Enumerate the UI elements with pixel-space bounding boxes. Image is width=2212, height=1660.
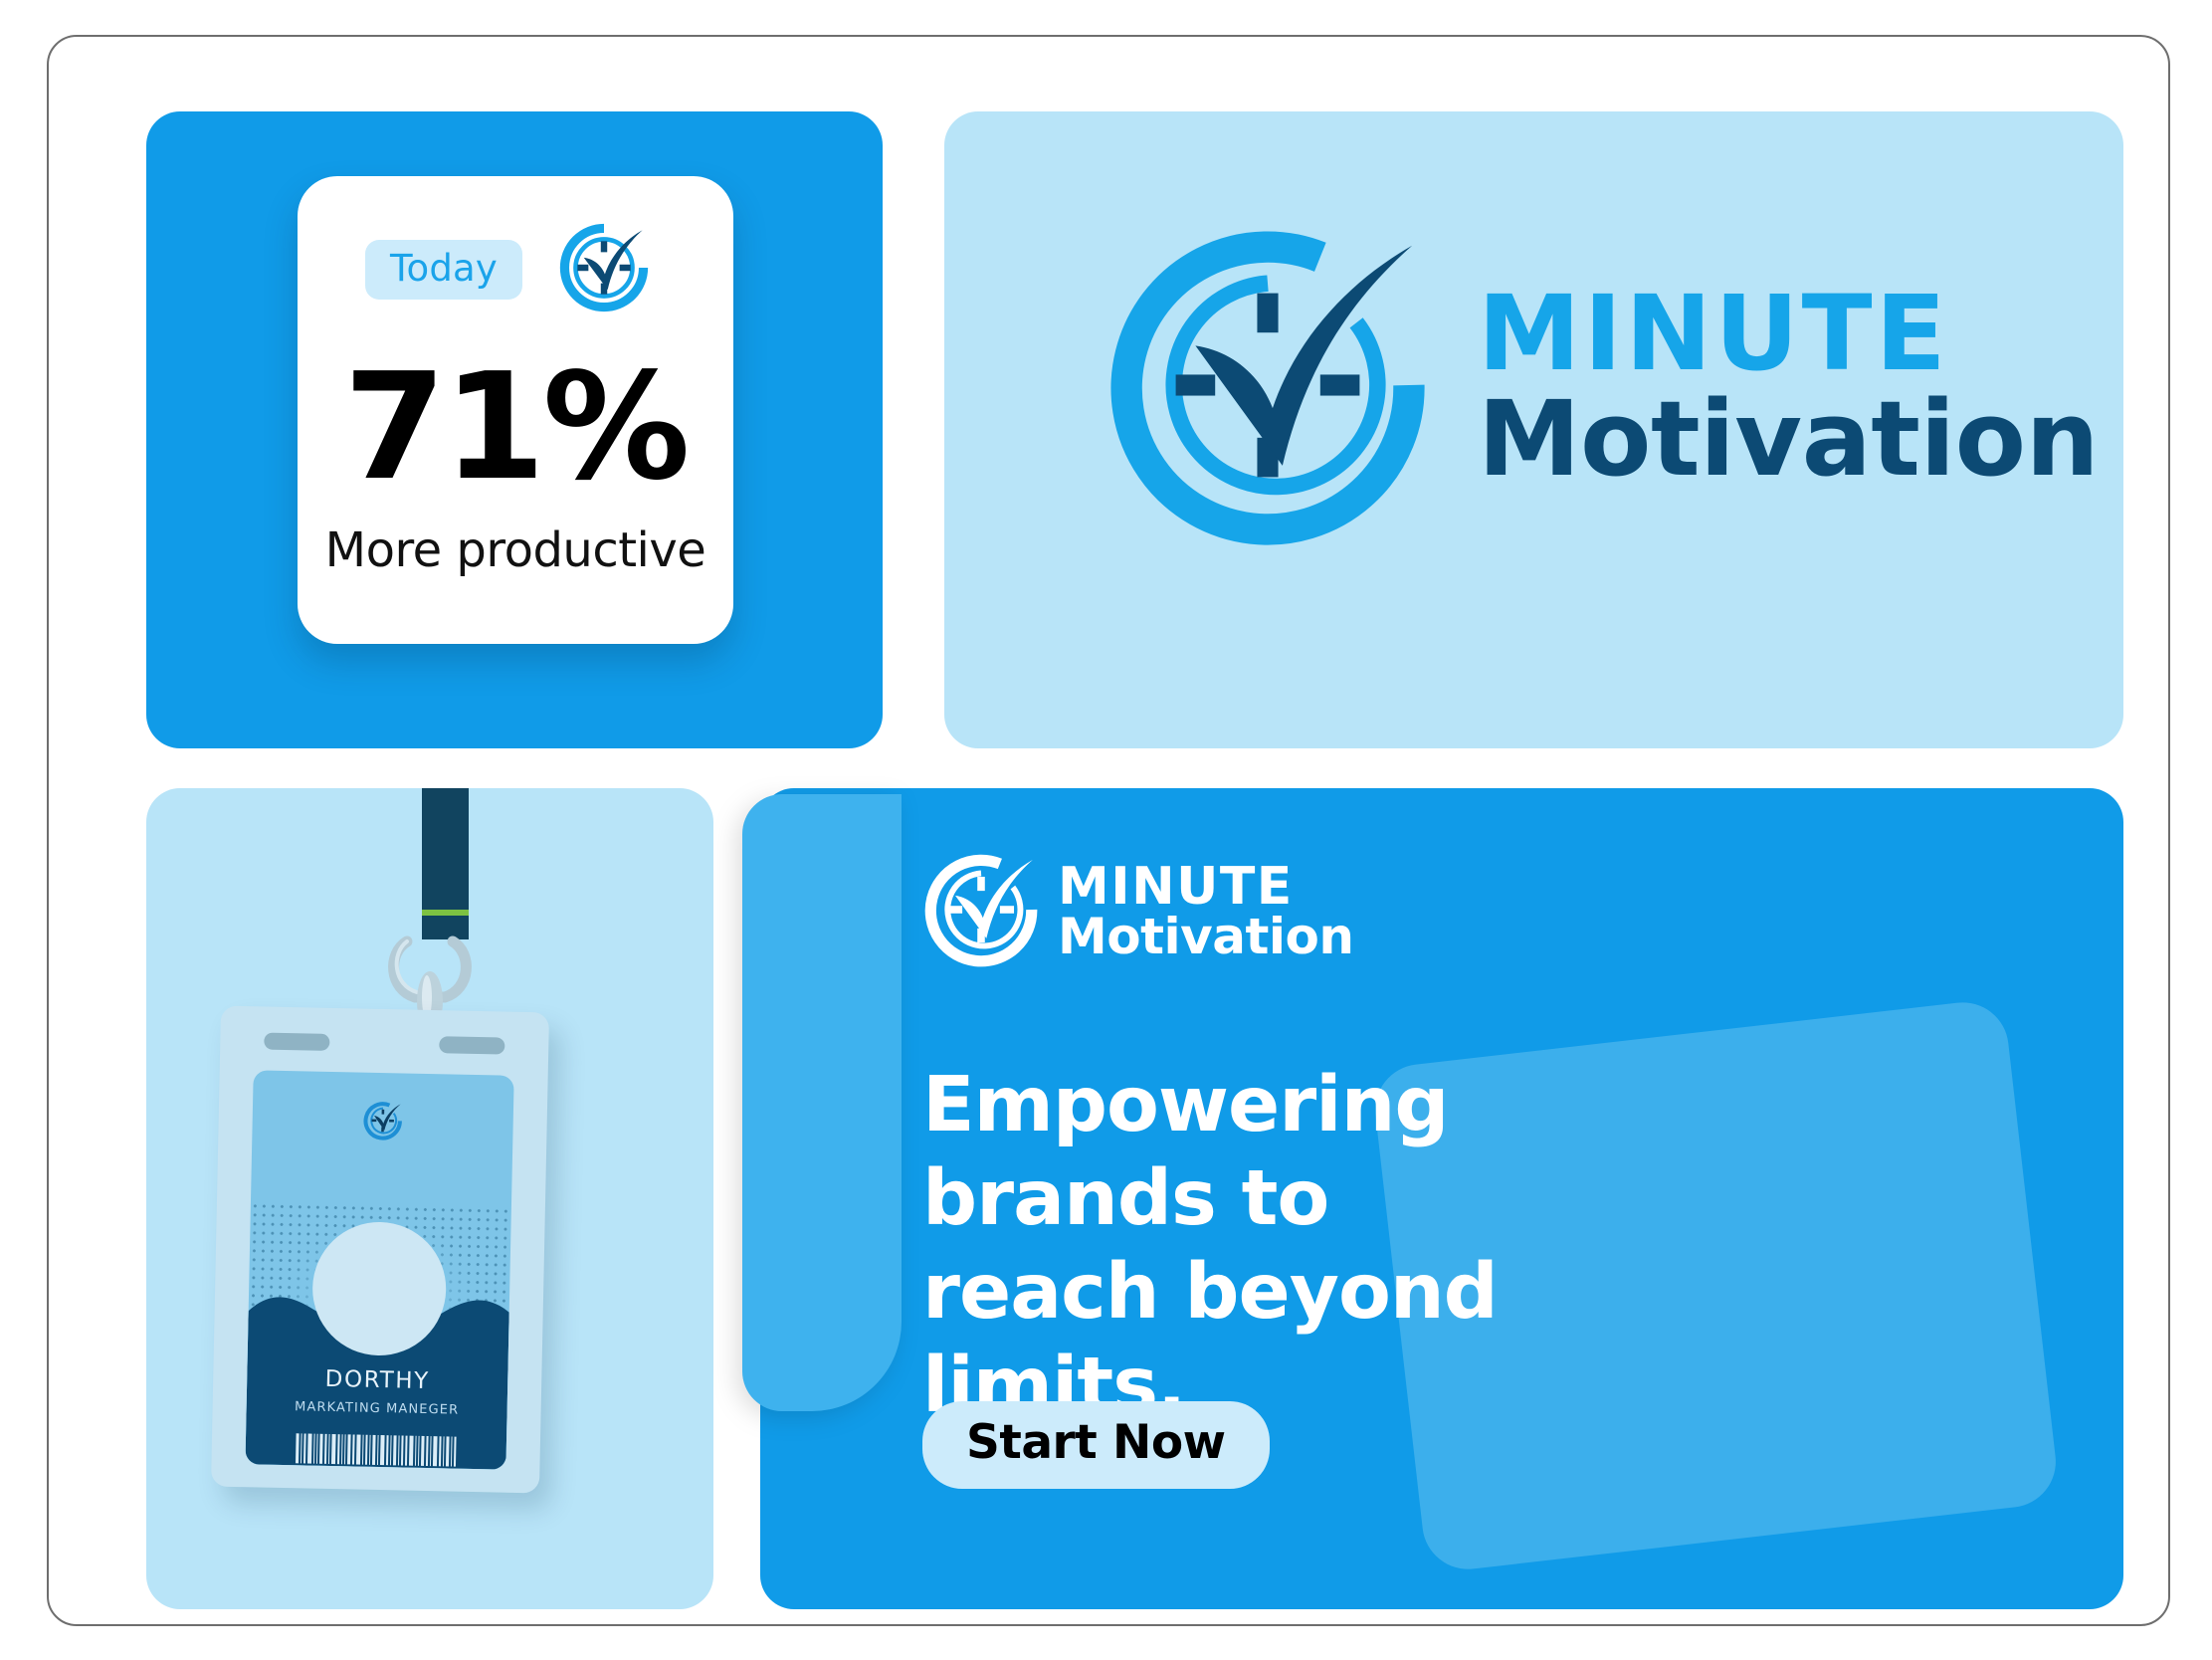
badge-employee-name: DORTHY (247, 1364, 507, 1395)
id-badge-card: DORTHY MARKATING MANEGER (211, 1006, 549, 1494)
stat-card-header: Today (298, 222, 733, 313)
clock-check-icon (1104, 221, 1432, 553)
start-now-button[interactable]: Start Now (922, 1401, 1270, 1489)
stat-value: 71% (298, 353, 733, 501)
presentation-board: Today 71% More productive (47, 35, 2170, 1626)
cta-panel: MINUTE Motivation Empowering brands to r… (760, 788, 2123, 1609)
logo-wordmark: MINUTE Motivation (1478, 285, 2099, 490)
cta-wordmark: MINUTE Motivation (1058, 863, 1353, 961)
clock-check-icon (922, 851, 1040, 972)
logo-panel: MINUTE Motivation (944, 111, 2123, 748)
badge-insert: DORTHY MARKATING MANEGER (245, 1070, 513, 1469)
stat-caption: More productive (298, 522, 733, 578)
clock-check-icon (558, 222, 650, 317)
stat-card: Today 71% More productive (298, 176, 733, 644)
logo-lockup: MINUTE Motivation (1104, 221, 2099, 553)
stat-panel: Today 71% More productive (146, 111, 883, 748)
wordmark-motivation: Motivation (1478, 390, 2099, 490)
barcode (296, 1433, 457, 1466)
cta-logo-lockup: MINUTE Motivation (922, 851, 1353, 972)
cta-headline: Empowering brands to reach beyond limits… (922, 1059, 1559, 1433)
cta-wordmark-minute: MINUTE (1058, 863, 1353, 912)
clock-check-icon (362, 1101, 403, 1145)
today-badge: Today (365, 240, 522, 300)
cta-wordmark-motivation: Motivation (1058, 914, 1353, 961)
cta-content: MINUTE Motivation Empowering brands to r… (760, 788, 2123, 1609)
badge-panel: DORTHY MARKATING MANEGER (146, 788, 713, 1609)
wordmark-minute: MINUTE (1478, 285, 2099, 384)
badge-slot-right (439, 1036, 504, 1054)
badge-slot-left (264, 1033, 329, 1051)
